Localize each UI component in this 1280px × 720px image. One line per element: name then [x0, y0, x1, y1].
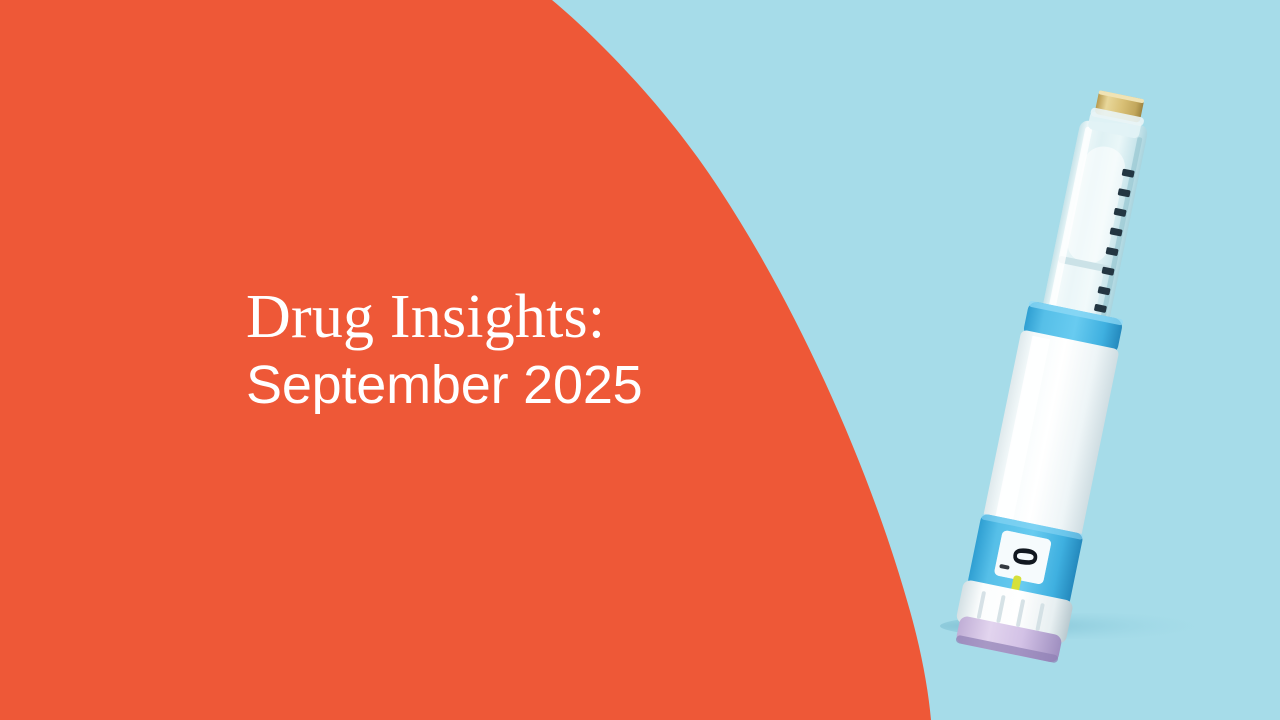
title-slide: 0 — [0, 0, 1280, 720]
page-title-secondary: September 2025 — [246, 355, 806, 415]
page-title-primary: Drug Insights: — [246, 286, 806, 349]
title-block: Drug Insights: September 2025 — [246, 286, 806, 416]
